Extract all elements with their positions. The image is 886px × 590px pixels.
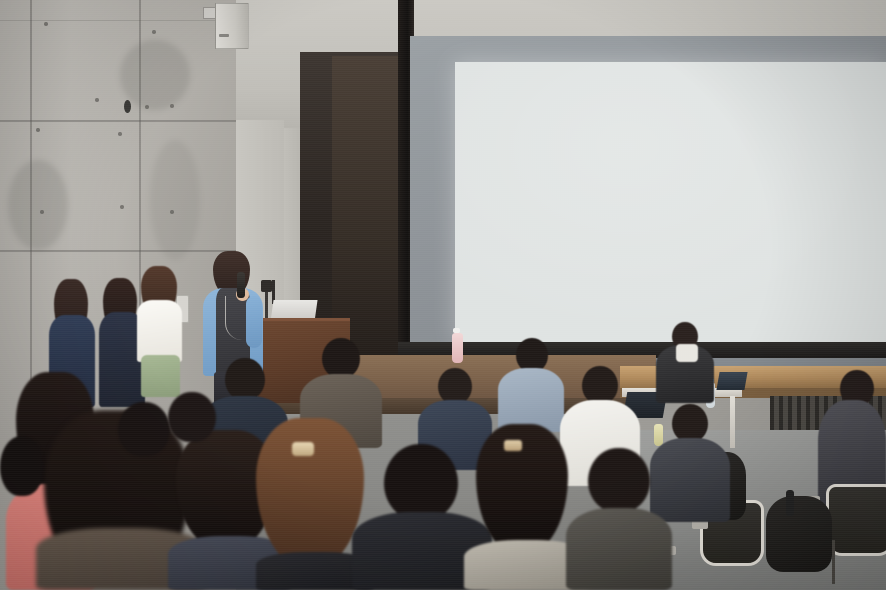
head (168, 392, 216, 442)
bottle-cap (453, 328, 460, 333)
presenter-skirt (141, 355, 180, 397)
chair (826, 484, 886, 556)
wall-seam (0, 120, 236, 122)
torso (566, 508, 672, 590)
speaker-arm (246, 296, 262, 348)
drink-bottle (654, 424, 663, 446)
collar (676, 344, 698, 362)
head (118, 402, 170, 456)
presenter-blouse (137, 300, 182, 362)
microphone (237, 272, 245, 298)
pink-water-bottle (452, 333, 463, 363)
head (516, 338, 548, 372)
wall-stain (120, 40, 190, 110)
microphone-cable (225, 296, 242, 340)
tie-hole (95, 98, 99, 102)
wall-stain (150, 140, 200, 260)
desk-leg (730, 396, 735, 448)
head (0, 436, 44, 496)
wall-seam (0, 20, 236, 21)
presentation-photo: 4. 施工部より（10min） (0, 0, 886, 590)
head (582, 366, 618, 404)
speaker-grill (219, 34, 229, 37)
backpack-strap (786, 490, 794, 516)
chair-leg (832, 540, 835, 584)
head (384, 444, 458, 520)
mic-stand-head (261, 280, 272, 292)
projection-screen: 4. 施工部より（10min） (455, 62, 886, 342)
hair-clip (504, 440, 522, 451)
wall-hole (124, 100, 131, 113)
head (322, 338, 360, 378)
tie-hole (44, 22, 48, 26)
laptop (716, 372, 747, 390)
tie-hole (120, 205, 124, 209)
head (225, 358, 265, 400)
torso (650, 438, 730, 522)
tie-hole (118, 132, 122, 136)
head (672, 404, 708, 442)
torso (498, 368, 564, 432)
wall-speaker-icon (215, 3, 249, 49)
wall-seam (0, 250, 236, 252)
tie-hole (36, 128, 40, 132)
head (588, 448, 650, 512)
backpack (766, 496, 832, 572)
wall-stain (8, 160, 68, 250)
hair-clip (292, 442, 314, 456)
tie-hole (152, 30, 156, 34)
head (438, 368, 472, 404)
